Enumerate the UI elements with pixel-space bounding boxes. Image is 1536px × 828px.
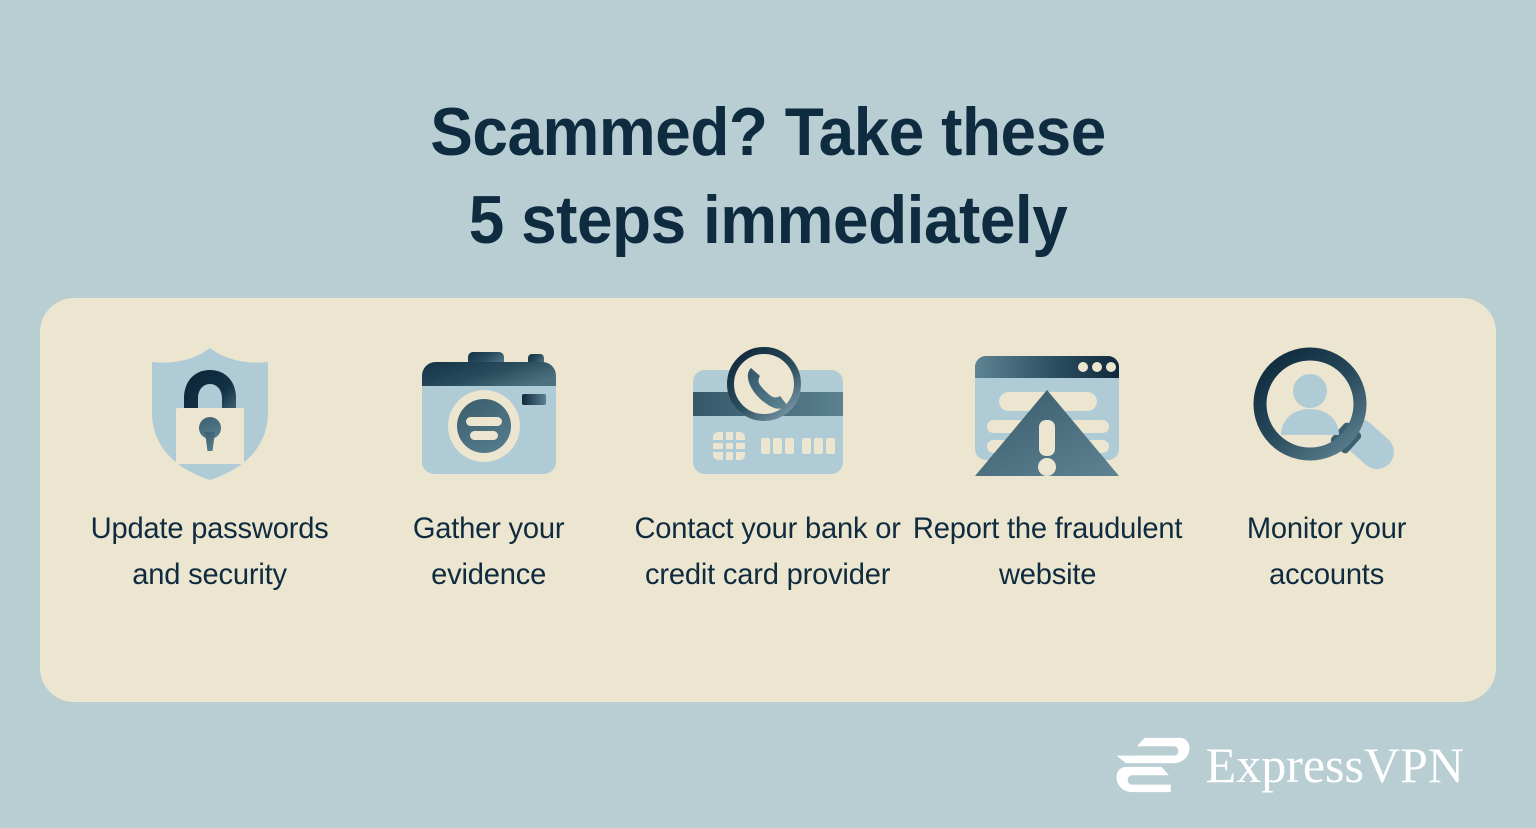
credit-card-phone-icon bbox=[693, 344, 843, 484]
step-label: Report the fraudulent website bbox=[912, 506, 1183, 598]
page-title: Scammed? Take these 5 steps immediately bbox=[46, 88, 1490, 264]
magnifier-person-icon bbox=[1251, 344, 1401, 484]
expressvpn-wordmark: ExpressVPN bbox=[1206, 740, 1464, 790]
step-label: Monitor your accounts bbox=[1191, 506, 1462, 598]
steps-list: Update passwords and security bbox=[40, 298, 1496, 702]
expressvpn-logo: ExpressVPN bbox=[1116, 736, 1464, 794]
page-title-line-2: 5 steps immediately bbox=[46, 176, 1490, 264]
page-title-line-1: Scammed? Take these bbox=[46, 88, 1490, 176]
step-item-gather-evidence: Gather your evidence bbox=[349, 344, 628, 598]
expressvpn-e-mark-icon bbox=[1116, 736, 1190, 794]
steps-card: Update passwords and security bbox=[40, 298, 1496, 702]
shield-lock-icon bbox=[135, 344, 285, 484]
browser-warning-icon bbox=[972, 344, 1122, 484]
step-label: Update passwords and security bbox=[74, 506, 345, 598]
step-item-contact-bank: Contact your bank or credit card provide… bbox=[628, 344, 907, 598]
step-item-report-website: Report the fraudulent website bbox=[908, 344, 1187, 598]
step-item-monitor-accounts: Monitor your accounts bbox=[1187, 344, 1466, 598]
step-item-update-passwords: Update passwords and security bbox=[70, 344, 349, 598]
camera-icon bbox=[414, 344, 564, 484]
step-label: Gather your evidence bbox=[353, 506, 624, 598]
step-label: Contact your bank or credit card provide… bbox=[633, 506, 904, 598]
